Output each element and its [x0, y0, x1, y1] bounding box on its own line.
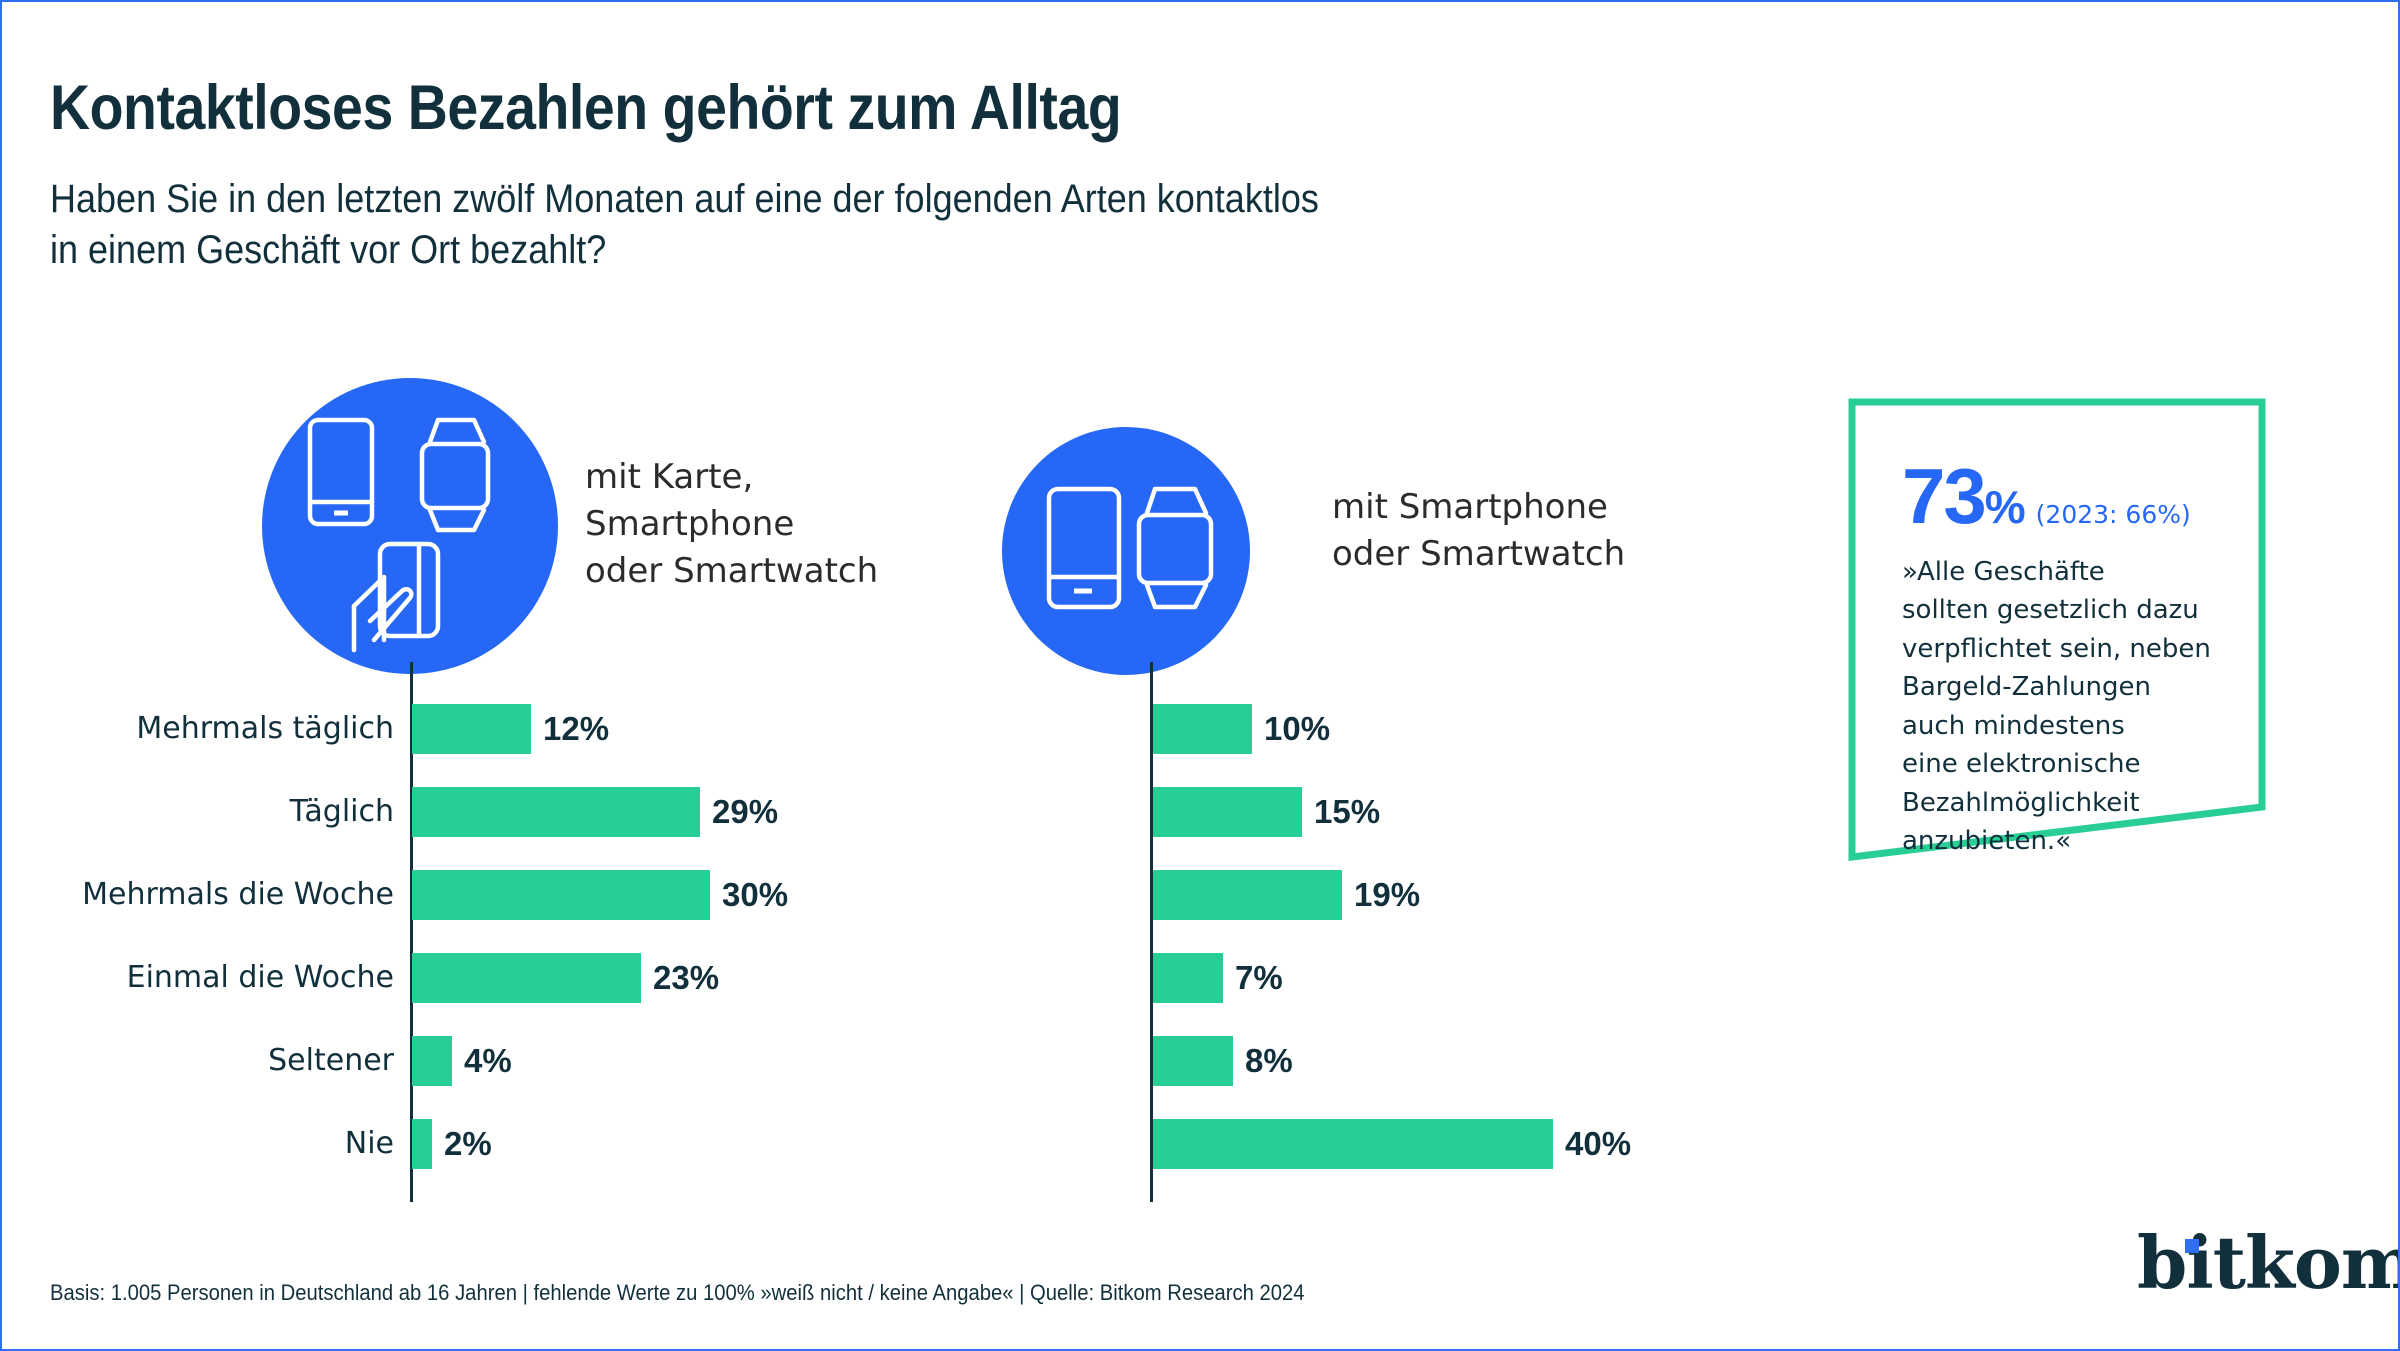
left-bar-value-4: 4%	[464, 1042, 512, 1080]
bitkom-logo-dot	[2185, 1239, 2199, 1253]
right-bar-value-1: 15%	[1314, 793, 1380, 831]
left-bar-1	[412, 787, 700, 837]
right-bar-row-0: 10%	[1153, 704, 1330, 754]
left-icon-group	[262, 378, 558, 674]
left-cat-label-1: Täglich	[2, 787, 394, 837]
left-bar-value-5: 2%	[444, 1125, 492, 1163]
left-bar-3	[412, 953, 641, 1003]
right-panel-icon-circle	[1002, 427, 1250, 675]
left-cat-label-4: Seltener	[2, 1036, 394, 1086]
quote-number: 73	[1902, 452, 1985, 540]
right-bar-0	[1153, 704, 1252, 754]
left-bar-value-2: 30%	[722, 876, 788, 914]
right-bar-row-3: 7%	[1153, 953, 1283, 1003]
subtitle-line-1: Haben Sie in den letzten zwölf Monaten a…	[50, 174, 1760, 225]
right-bar-3	[1153, 953, 1223, 1003]
left-cat-label-3: Einmal die Woche	[2, 953, 394, 1003]
footer-note: Basis: 1.005 Personen in Deutschland ab …	[50, 1280, 1305, 1306]
left-cat-label-5: Nie	[2, 1119, 394, 1169]
right-bar-5	[1153, 1119, 1553, 1169]
quote-line-0: »Alle Geschäfte	[1902, 553, 2242, 591]
left-bar-row-3: 23%	[412, 953, 719, 1003]
right-bar-value-3: 7%	[1235, 959, 1283, 997]
right-bar-value-4: 8%	[1245, 1042, 1293, 1080]
left-bar-value-1: 29%	[712, 793, 778, 831]
hand-with-card-icon	[354, 544, 438, 650]
quote-previous-year: (2023: 66%)	[2036, 500, 2191, 529]
left-bar-row-5: 2%	[412, 1119, 492, 1169]
right-bar-row-2: 19%	[1153, 870, 1420, 920]
left-bar-row-2: 30%	[412, 870, 788, 920]
left-bar-5	[412, 1119, 432, 1169]
quote-line-1: sollten gesetzlich dazu	[1902, 591, 2242, 629]
bitkom-logo-wordmark: bitkom	[2137, 1227, 2367, 1299]
quote-line-6: Bezahlmöglichkeit	[1902, 784, 2242, 822]
quote-callout: 73%(2023: 66%) »Alle Geschäfte sollten g…	[1847, 397, 2267, 1007]
right-icon-group	[1002, 427, 1250, 675]
quote-percent-sign: %	[1985, 481, 2026, 533]
subtitle-line-2: in einem Geschäft vor Ort bezahlt?	[50, 225, 1760, 276]
right-label-line-2: oder Smartwatch	[1332, 531, 1625, 578]
infographic-page: Kontaktloses Bezahlen gehört zum Alltag …	[0, 0, 2400, 1351]
quote-line-5: eine elektronische	[1902, 745, 2242, 783]
right-bar-value-5: 40%	[1565, 1125, 1631, 1163]
left-bar-row-0: 12%	[412, 704, 609, 754]
bitkom-logo: bitkom	[2137, 1227, 2367, 1297]
right-label-line-1: mit Smartphone	[1332, 484, 1625, 531]
left-bar-0	[412, 704, 531, 754]
quote-line-7: anzubieten.«	[1902, 822, 2242, 860]
right-bar-4	[1153, 1036, 1233, 1086]
smartphone-icon	[1049, 489, 1119, 607]
left-cat-label-2: Mehrmals die Woche	[2, 870, 394, 920]
quote-content: 73%(2023: 66%) »Alle Geschäfte sollten g…	[1902, 457, 2242, 861]
left-panel-icon-circle	[262, 378, 558, 674]
right-bar-row-5: 40%	[1153, 1119, 1631, 1169]
right-bar-value-2: 19%	[1354, 876, 1420, 914]
right-bar-1	[1153, 787, 1302, 837]
quote-line-3: Bargeld-Zahlungen	[1902, 668, 2242, 706]
right-bar-row-1: 15%	[1153, 787, 1380, 837]
left-panel-label: mit Karte, Smartphone oder Smartwatch	[585, 454, 878, 595]
right-bar-row-4: 8%	[1153, 1036, 1293, 1086]
quote-line-2: verpflichtet sein, neben	[1902, 630, 2242, 668]
left-bar-value-3: 23%	[653, 959, 719, 997]
smartwatch-icon	[422, 420, 488, 530]
left-bar-4	[412, 1036, 452, 1086]
quote-line-4: auch mindestens	[1902, 707, 2242, 745]
right-bar-value-0: 10%	[1264, 710, 1330, 748]
page-title: Kontaktloses Bezahlen gehört zum Alltag	[50, 72, 1121, 144]
left-bar-2	[412, 870, 710, 920]
smartphone-icon	[310, 420, 372, 524]
smartwatch-icon	[1139, 489, 1211, 607]
right-bar-2	[1153, 870, 1342, 920]
page-subtitle: Haben Sie in den letzten zwölf Monaten a…	[50, 174, 1760, 276]
left-bar-row-1: 29%	[412, 787, 778, 837]
left-label-line-1: mit Karte,	[585, 454, 878, 501]
quote-body: »Alle Geschäfte sollten gesetzlich dazu …	[1902, 553, 2242, 861]
left-bar-value-0: 12%	[543, 710, 609, 748]
left-label-line-3: oder Smartwatch	[585, 548, 878, 595]
quote-headline-number: 73%(2023: 66%)	[1902, 457, 2242, 535]
left-bar-row-4: 4%	[412, 1036, 512, 1086]
right-panel-label: mit Smartphone oder Smartwatch	[1332, 484, 1625, 578]
left-label-line-2: Smartphone	[585, 501, 878, 548]
left-cat-label-0: Mehrmals täglich	[2, 704, 394, 754]
